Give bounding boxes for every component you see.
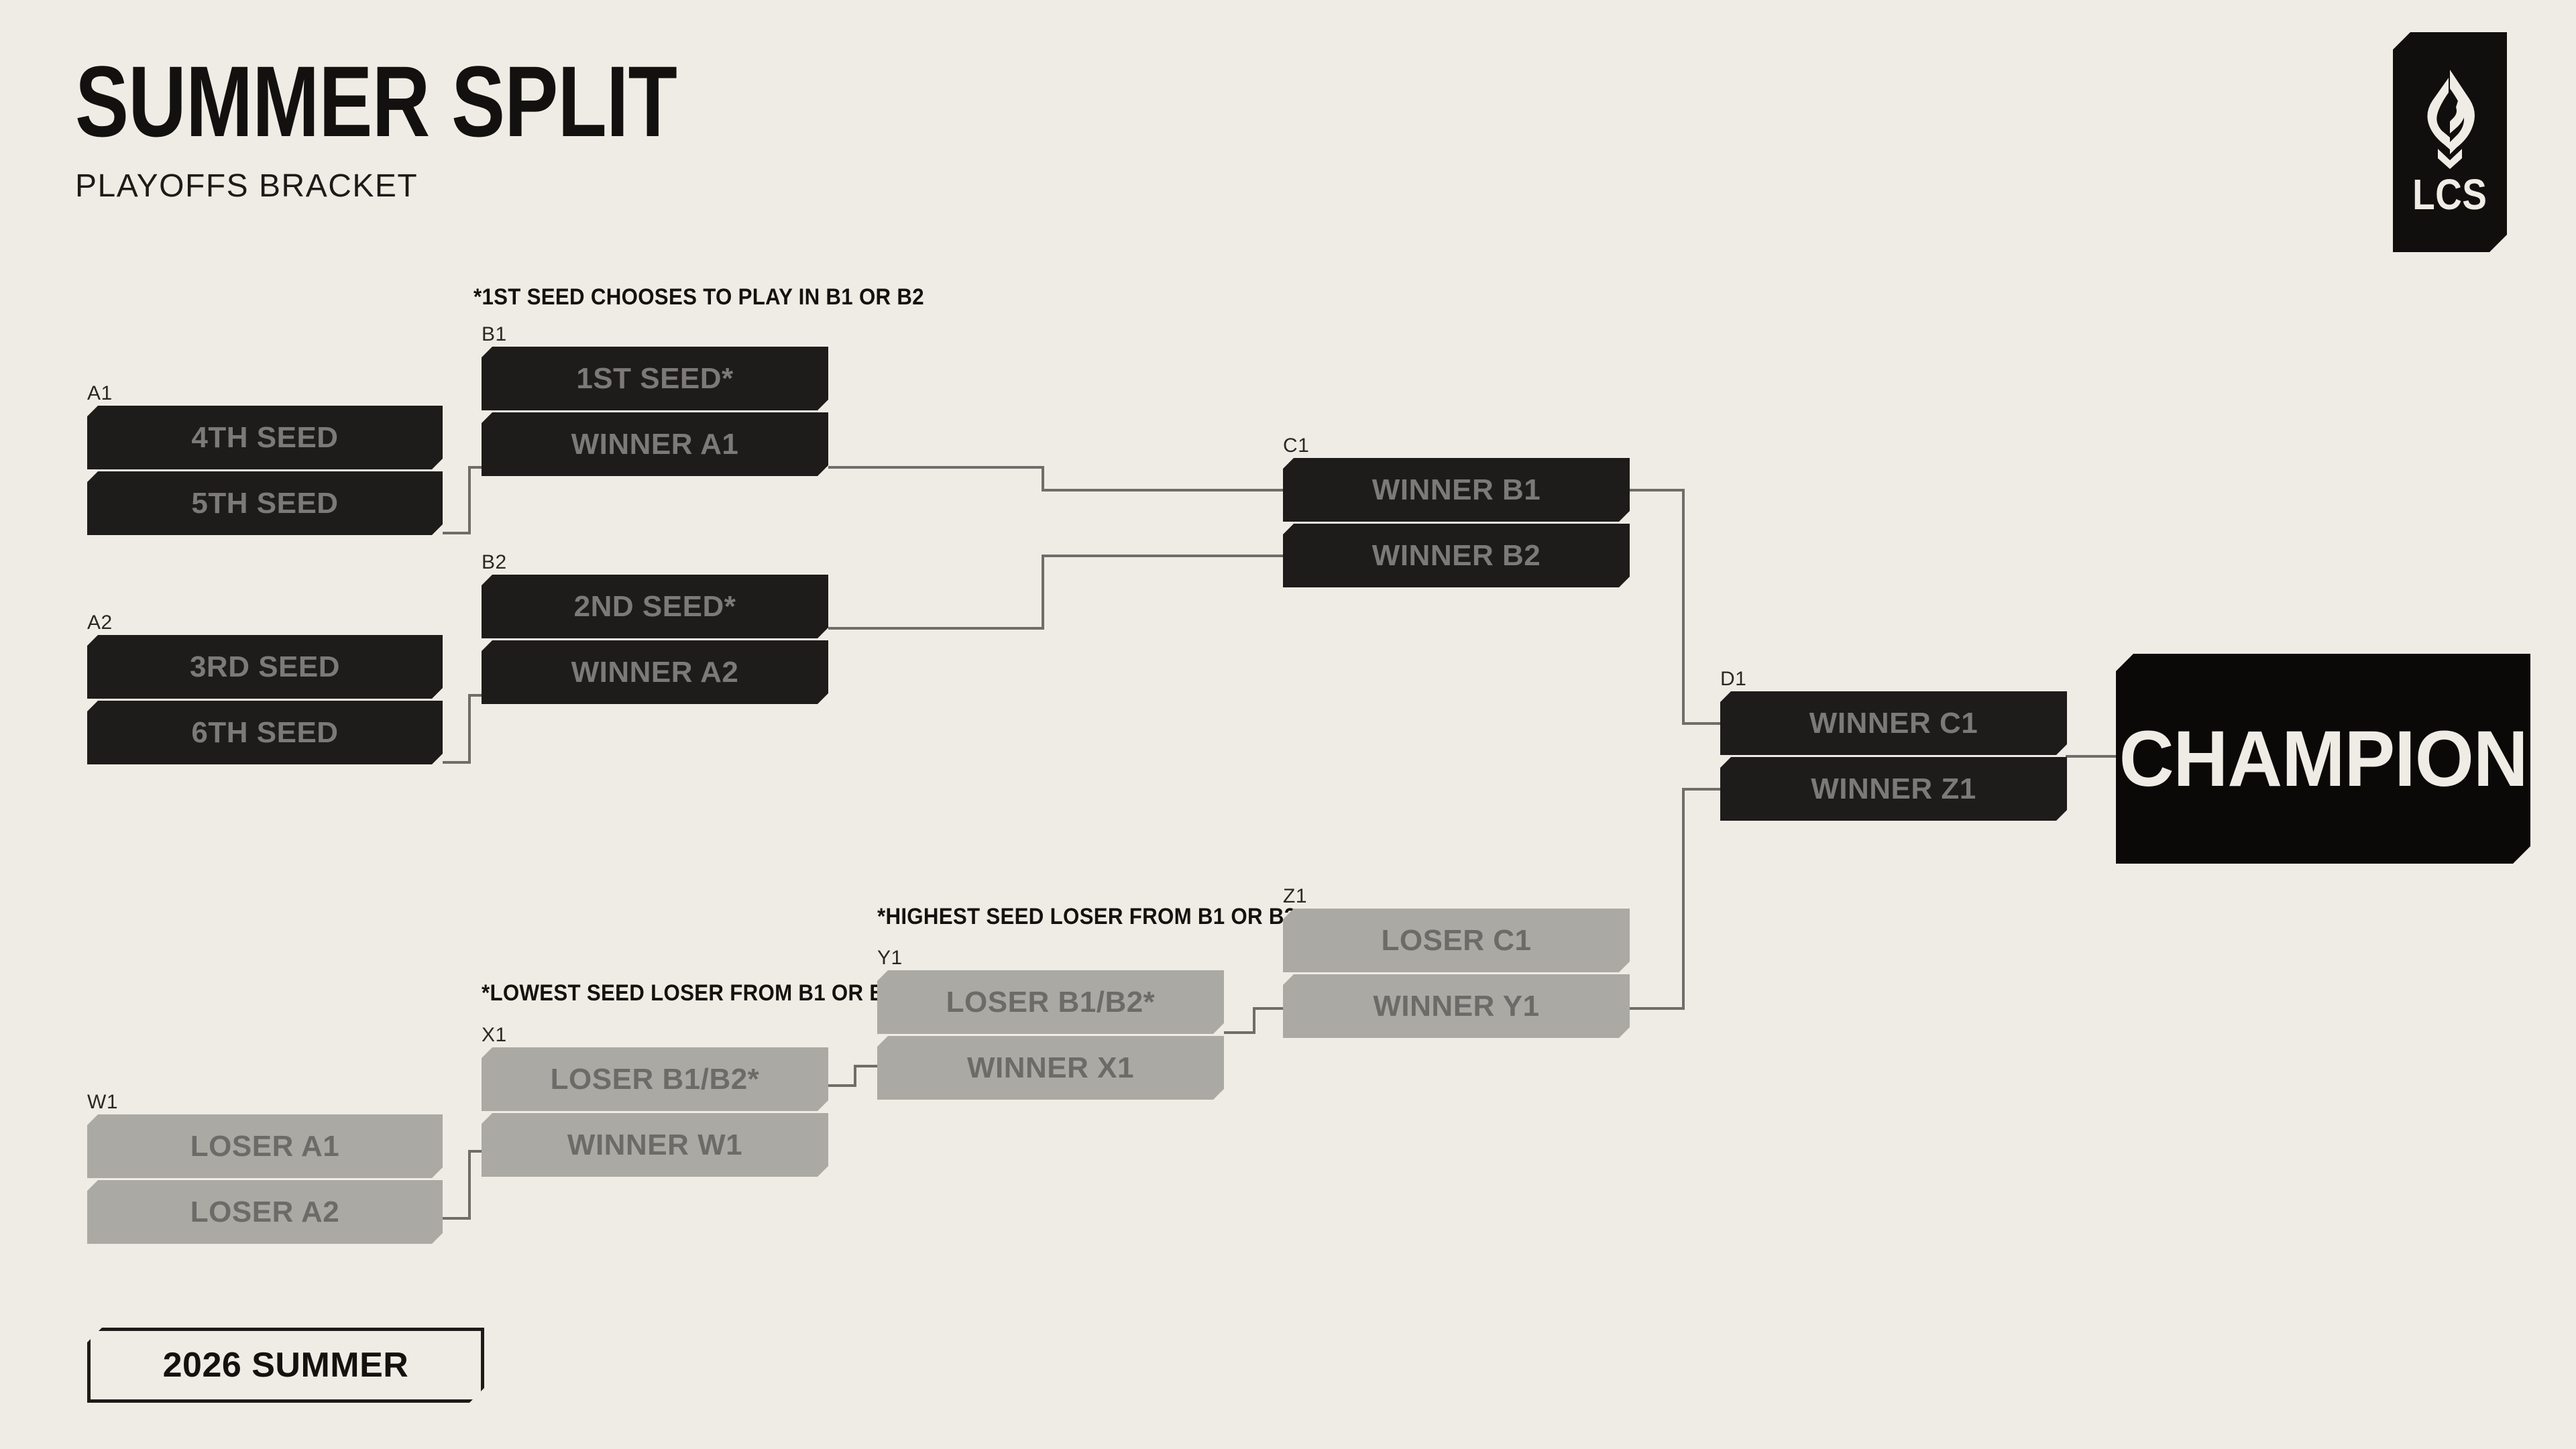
page-title: SUMMER SPLIT xyxy=(75,55,677,148)
match-z1[interactable]: LOSER C1 WINNER Y1 xyxy=(1283,909,1630,1038)
match-label-b1: B1 xyxy=(482,323,507,346)
match-slot[interactable]: WINNER B1 xyxy=(1283,458,1630,522)
match-label-x1: X1 xyxy=(482,1024,507,1047)
match-label-a1: A1 xyxy=(87,382,113,405)
match-label-c1: C1 xyxy=(1283,434,1309,457)
match-slot[interactable]: WINNER Y1 xyxy=(1283,974,1630,1038)
match-slot[interactable]: 1ST SEED* xyxy=(482,347,828,410)
match-label-z1: Z1 xyxy=(1283,885,1307,908)
match-x1[interactable]: LOSER B1/B2* WINNER W1 xyxy=(482,1047,828,1177)
match-label-a2: A2 xyxy=(87,612,113,634)
match-a2[interactable]: 3RD SEED 6TH SEED xyxy=(87,635,443,764)
match-slot[interactable]: LOSER B1/B2* xyxy=(482,1047,828,1111)
match-slot[interactable]: WINNER Z1 xyxy=(1720,757,2067,821)
match-slot[interactable]: 2ND SEED* xyxy=(482,575,828,638)
match-label-d1: D1 xyxy=(1720,668,1746,691)
match-w1[interactable]: LOSER A1 LOSER A2 xyxy=(87,1114,443,1244)
match-slot[interactable]: LOSER A1 xyxy=(87,1114,443,1178)
match-slot[interactable]: 6TH SEED xyxy=(87,701,443,764)
match-c1[interactable]: WINNER B1 WINNER B2 xyxy=(1283,458,1630,587)
lcs-logo-badge[interactable]: LCS xyxy=(2393,32,2507,252)
match-d1[interactable]: WINNER C1 WINNER Z1 xyxy=(1720,691,2067,821)
match-y1[interactable]: LOSER B1/B2* WINNER X1 xyxy=(877,970,1224,1100)
match-slot[interactable]: WINNER A1 xyxy=(482,412,828,476)
match-slot[interactable]: LOSER C1 xyxy=(1283,909,1630,972)
match-slot[interactable]: LOSER B1/B2* xyxy=(877,970,1224,1034)
season-chip-label: 2026 SUMMER xyxy=(163,1345,409,1385)
header: SUMMER SPLIT PLAYOFFS BRACKET xyxy=(75,55,827,205)
match-slot[interactable]: WINNER C1 xyxy=(1720,691,2067,755)
annotation-x-lowest-loser: *LOWEST SEED LOSER FROM B1 OR B2 xyxy=(482,980,897,1006)
match-slot[interactable]: WINNER B2 xyxy=(1283,524,1630,587)
lcs-wordmark: LCS xyxy=(2412,173,2487,216)
season-selector-chip[interactable]: 2026 SUMMER xyxy=(87,1328,484,1403)
page-subtitle: PLAYOFFS BRACKET xyxy=(75,168,827,205)
match-b1[interactable]: 1ST SEED* WINNER A1 xyxy=(482,347,828,476)
match-slot[interactable]: 3RD SEED xyxy=(87,635,443,699)
annotation-b-seed-choice: *1ST SEED CHOOSES TO PLAY IN B1 OR B2 xyxy=(473,284,924,310)
champion-box[interactable]: CHAMPION xyxy=(2116,654,2530,864)
annotation-y-highest-loser: *HIGHEST SEED LOSER FROM B1 OR B2 xyxy=(877,904,1296,930)
match-label-b2: B2 xyxy=(482,551,507,574)
match-slot[interactable]: 4TH SEED xyxy=(87,406,443,469)
match-slot[interactable]: WINNER A2 xyxy=(482,640,828,704)
match-label-y1: Y1 xyxy=(877,947,903,970)
match-slot[interactable]: LOSER A2 xyxy=(87,1180,443,1244)
match-label-w1: W1 xyxy=(87,1091,118,1114)
champion-label: CHAMPION xyxy=(2119,719,2527,799)
match-slot[interactable]: WINNER W1 xyxy=(482,1113,828,1177)
match-a1[interactable]: 4TH SEED 5TH SEED xyxy=(87,406,443,535)
match-b2[interactable]: 2ND SEED* WINNER A2 xyxy=(482,575,828,704)
lcs-flame-icon xyxy=(2418,68,2482,169)
match-slot[interactable]: 5TH SEED xyxy=(87,471,443,535)
bracket-page: SUMMER SPLIT PLAYOFFS BRACKET LCS xyxy=(0,0,2576,1449)
match-slot[interactable]: WINNER X1 xyxy=(877,1036,1224,1100)
